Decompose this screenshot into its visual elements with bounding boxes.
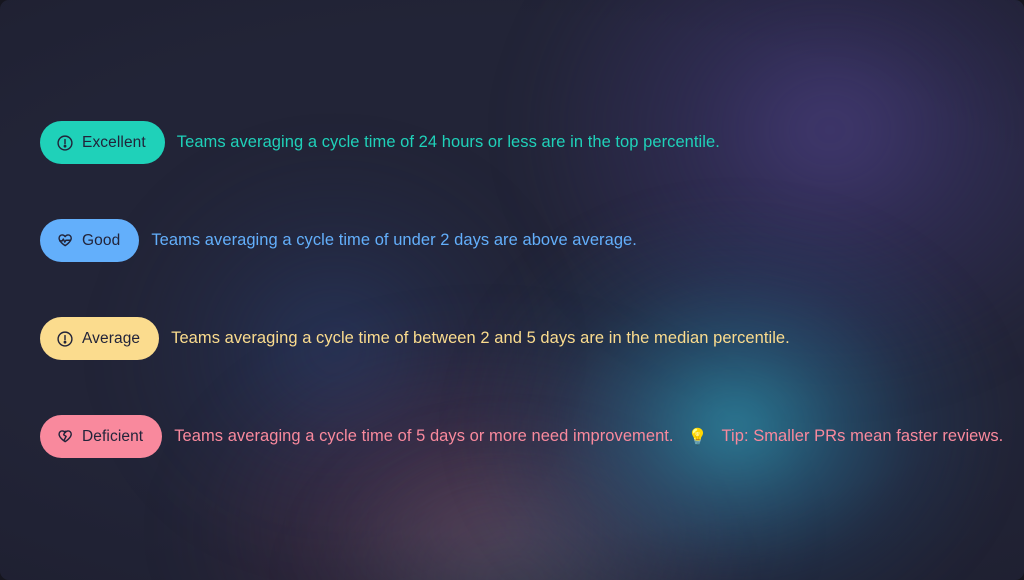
alert-circle-icon <box>56 330 74 348</box>
status-badge-deficient[interactable]: Deficient <box>40 415 162 458</box>
legend-row: Average Teams averaging a cycle time of … <box>40 317 790 360</box>
legend-description: Teams averaging a cycle time of under 2 … <box>151 231 637 251</box>
badge-label: Excellent <box>82 135 146 151</box>
badge-label: Average <box>82 331 140 347</box>
legend-description: Teams averaging a cycle time of between … <box>171 329 790 349</box>
heart-pulse-icon <box>56 232 74 250</box>
lightbulb-icon: 💡 <box>686 427 710 447</box>
legend-panel: Excellent Teams averaging a cycle time o… <box>0 0 1024 580</box>
badge-label: Deficient <box>82 429 143 445</box>
badge-label: Good <box>82 233 120 249</box>
heart-crack-icon <box>56 428 74 446</box>
legend-row-list: Excellent Teams averaging a cycle time o… <box>0 0 1024 580</box>
legend-tip: Tip: Smaller PRs mean faster reviews. <box>721 427 1003 447</box>
legend-description: Teams averaging a cycle time of 24 hours… <box>177 133 720 153</box>
legend-description: Teams averaging a cycle time of 5 days o… <box>174 427 673 447</box>
status-badge-excellent[interactable]: Excellent <box>40 121 165 164</box>
status-badge-average[interactable]: Average <box>40 317 159 360</box>
legend-row: Deficient Teams averaging a cycle time o… <box>40 415 1003 458</box>
status-badge-good[interactable]: Good <box>40 219 139 262</box>
alert-circle-icon <box>56 134 74 152</box>
legend-row: Good Teams averaging a cycle time of und… <box>40 219 637 262</box>
legend-row: Excellent Teams averaging a cycle time o… <box>40 121 720 164</box>
